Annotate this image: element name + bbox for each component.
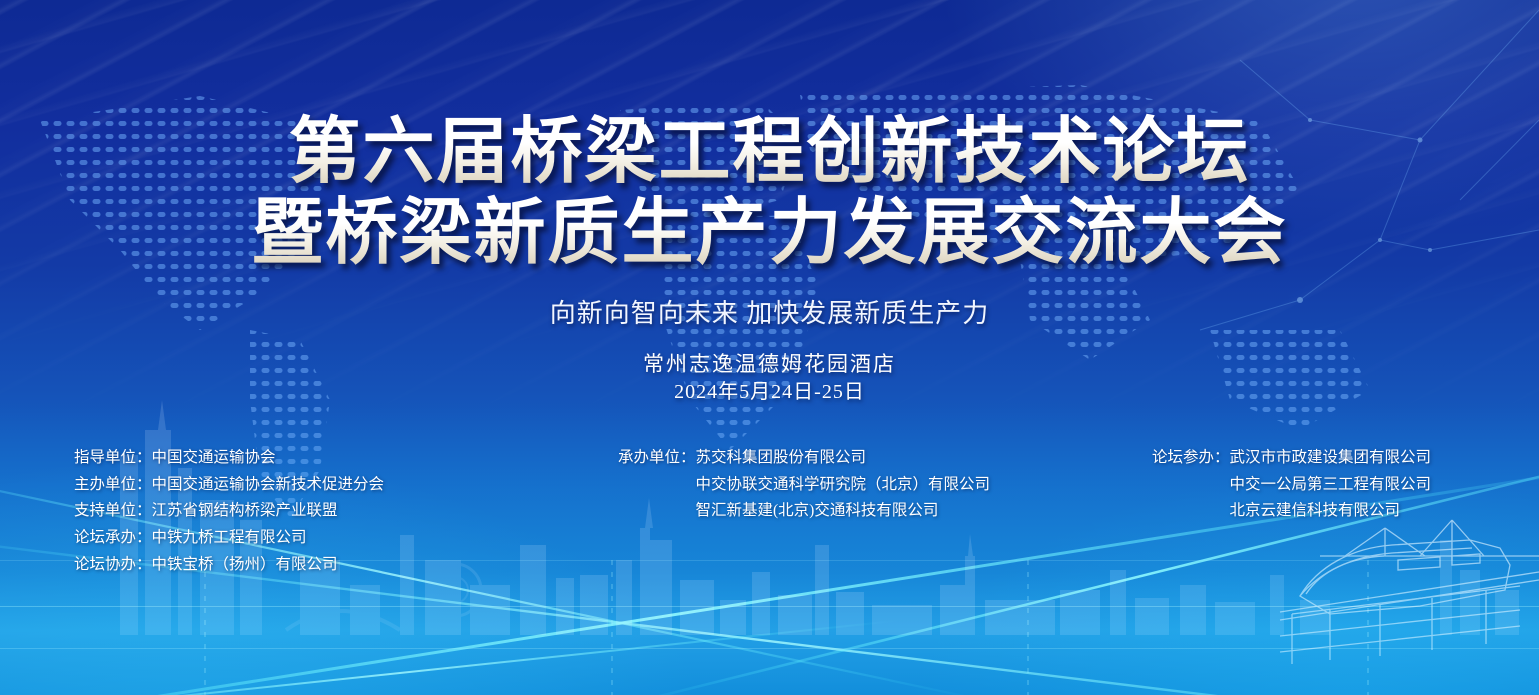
credits-column-left: 指导单位： 中国交通运输协会 主办单位： 中国交通运输协会新技术促进分会 支持单… (74, 445, 384, 578)
credit-value: 中铁宝桥（扬州）有限公司 (152, 552, 338, 579)
credit-row: 主办单位： 中国交通运输协会新技术促进分会 (74, 472, 384, 499)
slogan: 向新向智向未来 加快发展新质生产力 (0, 293, 1539, 330)
credits-block: 指导单位： 中国交通运输协会 主办单位： 中国交通运输协会新技术促进分会 支持单… (0, 445, 1539, 575)
credit-row: 论坛参办： 武汉市市政建设集团有限公司 (1152, 445, 1431, 472)
credit-label: 论坛参办： (1152, 445, 1230, 472)
credit-row: 承办单位： 中交协联交通科学研究院（北京）有限公司 (618, 472, 990, 499)
venue-name: 常州志逸温德姆花园酒店 (0, 350, 1539, 378)
credit-label: 论坛承办： (74, 525, 152, 552)
credit-label: 主办单位： (74, 472, 152, 499)
credit-row: 支持单位： 江苏省钢结构桥梁产业联盟 (74, 498, 384, 525)
credit-value: 北京云建信科技有限公司 (1230, 498, 1401, 525)
credit-row: 论坛协办： 中铁宝桥（扬州）有限公司 (74, 552, 384, 579)
credit-value: 中交协联交通科学研究院（北京）有限公司 (696, 472, 991, 499)
credit-value: 中国交通运输协会 (152, 445, 276, 472)
credit-value: 武汉市市政建设集团有限公司 (1230, 445, 1432, 472)
title-block: 第六届桥梁工程创新技术论坛 暨桥梁新质生产力发展交流大会 (0, 112, 1539, 273)
title-line-2: 暨桥梁新质生产力发展交流大会 (0, 193, 1539, 274)
credit-row: 论坛承办： 中铁九桥工程有限公司 (74, 525, 384, 552)
credit-value: 江苏省钢结构桥梁产业联盟 (152, 498, 338, 525)
credit-value: 智汇新基建(北京)交通科技有限公司 (696, 498, 939, 525)
credit-label: 承办单位： (618, 445, 696, 472)
credit-label: 指导单位： (74, 445, 152, 472)
venue-date: 2024年5月24日-25日 (0, 378, 1539, 406)
title-line-1: 第六届桥梁工程创新技术论坛 (0, 112, 1539, 193)
credit-row: 指导单位： 中国交通运输协会 (74, 445, 384, 472)
banner-content: 第六届桥梁工程创新技术论坛 暨桥梁新质生产力发展交流大会 向新向智向未来 加快发… (0, 0, 1539, 695)
venue-block: 常州志逸温德姆花园酒店 2024年5月24日-25日 (0, 350, 1539, 406)
credit-value: 中铁九桥工程有限公司 (152, 525, 307, 552)
credit-value: 中交一公局第三工程有限公司 (1230, 472, 1432, 499)
credit-value: 中国交通运输协会新技术促进分会 (152, 472, 385, 499)
credit-row: 论坛参办： 中交一公局第三工程有限公司 (1152, 472, 1431, 499)
conference-banner: 第六届桥梁工程创新技术论坛 暨桥梁新质生产力发展交流大会 向新向智向未来 加快发… (0, 0, 1539, 695)
credit-value: 苏交科集团股份有限公司 (696, 445, 867, 472)
credit-label: 支持单位： (74, 498, 152, 525)
credit-label: 论坛协办： (74, 552, 152, 579)
credit-row: 承办单位： 智汇新基建(北京)交通科技有限公司 (618, 498, 990, 525)
credits-column-right: 论坛参办： 武汉市市政建设集团有限公司 论坛参办： 中交一公局第三工程有限公司 … (1152, 445, 1431, 525)
credits-column-middle: 承办单位： 苏交科集团股份有限公司 承办单位： 中交协联交通科学研究院（北京）有… (618, 445, 990, 525)
credit-row: 承办单位： 苏交科集团股份有限公司 (618, 445, 990, 472)
credit-row: 论坛参办： 北京云建信科技有限公司 (1152, 498, 1431, 525)
